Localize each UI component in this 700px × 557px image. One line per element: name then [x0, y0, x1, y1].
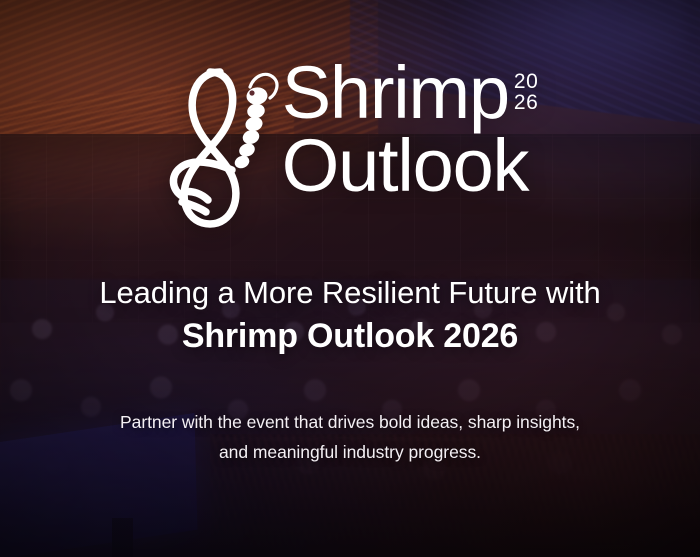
headline-line-2: Shrimp Outlook 2026 — [99, 315, 600, 359]
logo-wordmark: Shrimp 20 26 Outlook — [282, 60, 539, 199]
logo-word-shrimp: Shrimp — [282, 60, 509, 127]
logo-word-outlook: Outlook — [282, 133, 539, 200]
subtext: Partner with the event that drives bold … — [94, 407, 606, 467]
subtext-line-2: and meaningful industry progress. — [120, 437, 580, 467]
headline: Leading a More Resilient Future with Shr… — [75, 274, 624, 359]
logo-wordmark-row-1: Shrimp 20 26 — [282, 60, 539, 127]
logo-year-top: 20 — [514, 71, 538, 92]
promo-banner: Shrimp 20 26 Outlook Leading a More Resi… — [0, 0, 700, 557]
shrimp-infinity-logo-icon — [162, 58, 280, 230]
banner-content: Shrimp 20 26 Outlook Leading a More Resi… — [0, 0, 700, 557]
logo-lockup: Shrimp 20 26 Outlook — [162, 58, 539, 230]
logo-year-bottom: 26 — [514, 92, 538, 113]
logo-year-2026: 20 26 — [514, 71, 538, 114]
headline-line-1: Leading a More Resilient Future with — [99, 274, 600, 311]
subtext-line-1: Partner with the event that drives bold … — [120, 407, 580, 437]
